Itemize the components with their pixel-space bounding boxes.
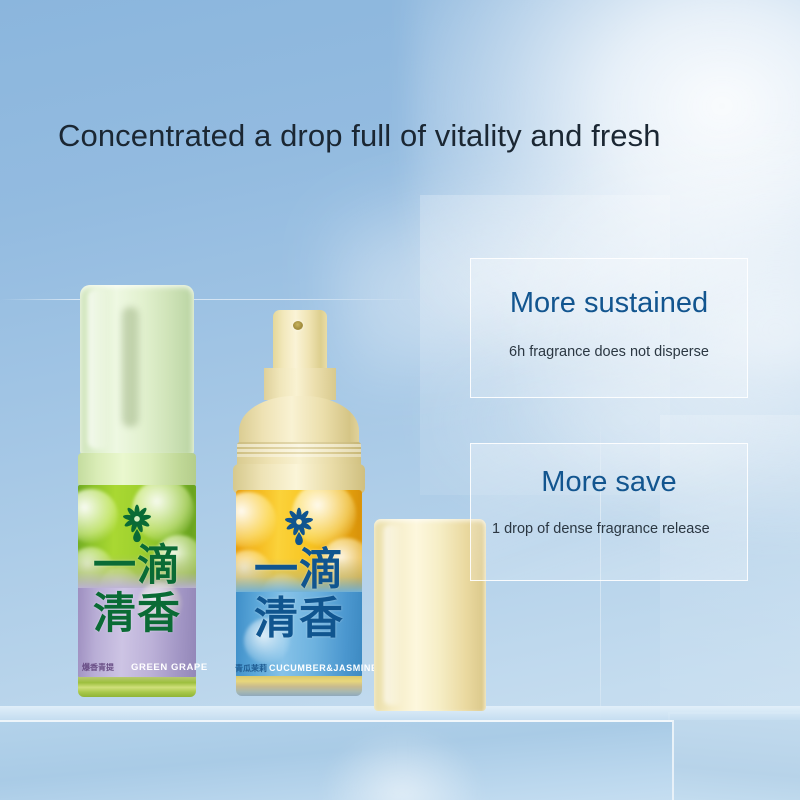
feature-card-title: More save bbox=[471, 466, 747, 499]
label-bokeh-dot bbox=[236, 492, 276, 548]
bottle-cap-green bbox=[80, 285, 194, 455]
product-hero-scene: Concentrated a drop full of vitality and… bbox=[0, 0, 800, 800]
background-horizon-line bbox=[0, 299, 420, 300]
product-name-cn-line2: 清香 bbox=[78, 593, 196, 636]
feature-card-subtitle: 6h fragrance does not disperse bbox=[471, 344, 747, 361]
product-bottle-cucumber-jasmine[interactable]: 一滴 清香 青瓜茉莉 CUCUMBER&JASMINE bbox=[233, 310, 365, 710]
spray-orifice-icon bbox=[293, 321, 303, 330]
feature-card-sustained[interactable]: More sustained 6h fragrance does not dis… bbox=[470, 258, 748, 398]
feature-card-subtitle: 1 drop of dense fragrance release bbox=[471, 521, 726, 538]
page-headline: Concentrated a drop full of vitality and… bbox=[58, 118, 758, 154]
bottle-label-cucumber-jasmine: 一滴 清香 bbox=[236, 490, 362, 680]
bottle-foot-ring-green bbox=[78, 677, 196, 697]
chrysanthemum-drop-icon bbox=[120, 503, 154, 543]
feature-card-save[interactable]: More save 1 drop of dense fragrance rele… bbox=[470, 443, 748, 581]
variant-name-en-green: GREEN GRAPE bbox=[131, 662, 208, 673]
variant-name-en-blue: CUCUMBER&JASMINE bbox=[269, 663, 378, 673]
label-bokeh-dot bbox=[78, 489, 118, 543]
cap-gloss-highlight bbox=[88, 289, 110, 449]
product-bottle-green-grape[interactable]: 一滴 清香 爆香青提 GREEN GRAPE bbox=[78, 285, 196, 710]
product-name-cn-line2: 清香 bbox=[236, 597, 362, 641]
pump-stem-silhouette bbox=[122, 307, 139, 427]
variant-name-cn-blue: 青瓜茉莉 bbox=[235, 663, 267, 674]
podium-side-face bbox=[668, 712, 800, 800]
product-name-cn-line1: 一滴 bbox=[78, 545, 196, 588]
bottle-collar-green bbox=[78, 453, 196, 487]
product-name-cn-line1: 一滴 bbox=[236, 548, 362, 592]
feature-card-title: More sustained bbox=[471, 287, 747, 320]
podium-front-face bbox=[0, 720, 674, 800]
chrysanthemum-drop-icon bbox=[282, 506, 316, 546]
bottle-foot-ring-cream bbox=[236, 676, 362, 696]
bottle-label-green-grape: 一滴 清香 bbox=[78, 485, 196, 680]
variant-name-cn-green: 爆香青提 bbox=[82, 662, 114, 673]
pump-nozzle-head[interactable] bbox=[273, 310, 327, 372]
cap-gloss-highlight bbox=[384, 525, 404, 705]
